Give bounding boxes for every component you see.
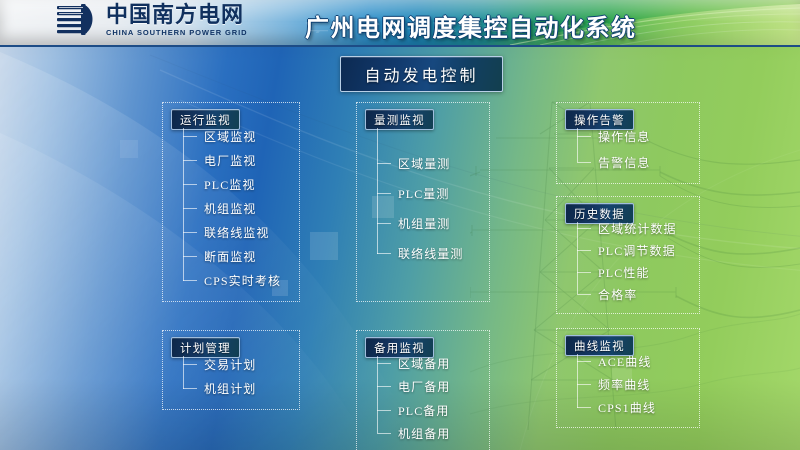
menu-group-operation-alarm: 操作告警操作信息告警信息: [556, 102, 700, 184]
tree-connector-line: [377, 433, 391, 434]
menu-item-historical-data-1[interactable]: PLC调节数据: [577, 244, 676, 258]
tree-connector-line: [183, 388, 197, 389]
group-header-measurement-monitoring[interactable]: 量测监视: [365, 109, 434, 130]
menu-item-label: 电厂备用: [398, 378, 450, 395]
menu-item-measurement-monitoring-2[interactable]: 机组量测: [377, 217, 450, 231]
group-tree-measurement-monitoring: 区域量测PLC量测机组量测联络线量测: [377, 128, 485, 299]
page-title: 自动发电控制: [364, 62, 478, 86]
tree-connector-line: [183, 256, 197, 257]
menu-item-label: ACE曲线: [598, 353, 652, 370]
menu-item-historical-data-3[interactable]: 合格率: [577, 287, 637, 301]
brand-name-en: CHINA SOUTHERN POWER GRID: [106, 29, 247, 37]
app-header: 中国南方电网 CHINA SOUTHERN POWER GRID 广州电网调度集…: [0, 0, 800, 47]
tree-connector-line: [377, 410, 391, 411]
southern-power-grid-logo-icon: [55, 3, 99, 37]
system-title: 广州电网调度集控自动化系统: [305, 8, 637, 43]
menu-item-operation-monitoring-3[interactable]: 机组监视: [183, 202, 256, 216]
tree-connector-line: [183, 280, 197, 281]
menu-group-measurement-monitoring: 量测监视区域量测PLC量测机组量测联络线量测: [356, 102, 490, 302]
group-header-label: 备用监视: [374, 340, 425, 356]
brand-logo: 中国南方电网 CHINA SOUTHERN POWER GRID: [55, 3, 247, 37]
menu-item-label: 操作信息: [598, 128, 650, 145]
menu-group-operation-monitoring: 运行监视区域监视电厂监视PLC监视机组监视联络线监视断面监视CPS实时考核: [162, 102, 300, 302]
menu-item-curve-monitoring-0[interactable]: ACE曲线: [577, 355, 652, 369]
menu-item-label: 机组监视: [204, 200, 256, 217]
menu-item-historical-data-0[interactable]: 区域统计数据: [577, 222, 677, 236]
menu-group-curve-monitoring: 曲线监视ACE曲线频率曲线CPS1曲线: [556, 328, 700, 428]
group-header-operation-alarm[interactable]: 操作告警: [565, 109, 634, 130]
menu-item-curve-monitoring-1[interactable]: 频率曲线: [577, 378, 650, 392]
menu-item-reserve-monitoring-1[interactable]: 电厂备用: [377, 380, 450, 394]
tree-connector-line: [377, 386, 391, 387]
menu-item-label: 区域统计数据: [598, 220, 677, 237]
menu-item-label: PLC调节数据: [598, 242, 676, 259]
menu-item-label: 合格率: [598, 286, 637, 303]
menu-item-label: 区域量测: [398, 155, 450, 172]
brand-name-cn: 中国南方电网: [106, 4, 247, 26]
menu-item-measurement-monitoring-1[interactable]: PLC量测: [377, 187, 450, 201]
menu-item-historical-data-2[interactable]: PLC性能: [577, 265, 650, 279]
tree-connector-line: [577, 228, 591, 229]
menu-item-plan-management-0[interactable]: 交易计划: [183, 357, 256, 371]
group-header-label: 操作告警: [574, 112, 625, 128]
group-tree-historical-data: 区域统计数据PLC调节数据PLC性能合格率: [577, 222, 695, 311]
menu-item-curve-monitoring-2[interactable]: CPS1曲线: [577, 401, 656, 415]
menu-item-reserve-monitoring-3[interactable]: 机组备用: [377, 426, 450, 440]
menu-item-label: 区域监视: [204, 128, 256, 145]
tree-connector-line: [577, 250, 591, 251]
tree-connector-line: [577, 294, 591, 295]
menu-item-measurement-monitoring-0[interactable]: 区域量测: [377, 157, 450, 171]
group-header-label: 计划管理: [180, 340, 231, 356]
menu-item-label: PLC备用: [398, 402, 450, 419]
menu-item-label: 告警信息: [598, 154, 650, 171]
tree-connector-line: [183, 184, 197, 185]
menu-group-plan-management: 计划管理交易计划机组计划: [162, 330, 300, 410]
menu-group-reserve-monitoring: 备用监视区域备用电厂备用PLC备用机组备用: [356, 330, 490, 450]
group-header-label: 历史数据: [574, 206, 625, 222]
tree-connector-line: [183, 232, 197, 233]
tree-connector-line: [183, 160, 197, 161]
group-header-label: 曲线监视: [574, 338, 625, 354]
group-header-label: 运行监视: [180, 112, 231, 128]
menu-item-operation-monitoring-0[interactable]: 区域监视: [183, 129, 256, 143]
menu-item-label: 交易计划: [204, 356, 256, 373]
menu-item-label: CPS实时考核: [204, 272, 281, 289]
menu-item-label: 断面监视: [204, 248, 256, 265]
menu-item-label: 机组备用: [398, 425, 450, 442]
group-header-label: 量测监视: [374, 112, 425, 128]
group-tree-operation-monitoring: 区域监视电厂监视PLC监视机组监视联络线监视断面监视CPS实时考核: [183, 128, 295, 299]
tree-connector-line: [183, 136, 197, 137]
menu-item-label: 频率曲线: [598, 376, 650, 393]
page-title-plate: 自动发电控制: [340, 56, 503, 92]
tree-connector-line: [577, 272, 591, 273]
menu-item-operation-monitoring-2[interactable]: PLC监视: [183, 177, 256, 191]
group-tree-operation-alarm: 操作信息告警信息: [577, 128, 695, 181]
menu-item-label: 机组计划: [204, 380, 256, 397]
menu-item-label: CPS1曲线: [598, 399, 656, 416]
group-tree-reserve-monitoring: 区域备用电厂备用PLC备用机组备用: [377, 356, 485, 450]
menu-item-operation-alarm-0[interactable]: 操作信息: [577, 130, 650, 144]
menu-item-label: PLC监视: [204, 176, 256, 193]
tree-connector-line: [377, 363, 391, 364]
menu-item-plan-management-1[interactable]: 机组计划: [183, 382, 256, 396]
tree-connector-line: [183, 364, 197, 365]
tree-connector-line: [577, 361, 591, 362]
menu-group-historical-data: 历史数据区域统计数据PLC调节数据PLC性能合格率: [556, 196, 700, 314]
menu-item-operation-monitoring-6[interactable]: CPS实时考核: [183, 274, 281, 288]
menu-item-reserve-monitoring-2[interactable]: PLC备用: [377, 403, 450, 417]
menu-item-label: 联络线监视: [204, 224, 270, 241]
group-tree-curve-monitoring: ACE曲线频率曲线CPS1曲线: [577, 354, 695, 425]
menu-item-operation-monitoring-1[interactable]: 电厂监视: [183, 153, 256, 167]
menu-item-operation-alarm-1[interactable]: 告警信息: [577, 155, 650, 169]
app-screen: 中国南方电网 CHINA SOUTHERN POWER GRID 广州电网调度集…: [0, 0, 800, 450]
tree-connector-line: [577, 136, 591, 137]
tree-connector-line: [577, 407, 591, 408]
tree-connector-line: [377, 163, 391, 164]
menu-item-operation-monitoring-4[interactable]: 联络线监视: [183, 226, 270, 240]
tree-connector-line: [577, 162, 591, 163]
menu-item-label: 机组量测: [398, 215, 450, 232]
group-tree-plan-management: 交易计划机组计划: [183, 356, 295, 407]
tree-connector-line: [577, 384, 591, 385]
menu-item-operation-monitoring-5[interactable]: 断面监视: [183, 250, 256, 264]
menu-item-reserve-monitoring-0[interactable]: 区域备用: [377, 357, 450, 371]
menu-item-label: PLC量测: [398, 185, 450, 202]
menu-item-label: 区域备用: [398, 355, 450, 372]
menu-item-measurement-monitoring-3[interactable]: 联络线量测: [377, 247, 464, 261]
menu-item-label: PLC性能: [598, 264, 650, 281]
menu-item-label: 联络线量测: [398, 245, 464, 262]
tree-connector-line: [183, 208, 197, 209]
tree-connector-line: [377, 193, 391, 194]
tree-connector-line: [377, 223, 391, 224]
tree-connector-line: [377, 253, 391, 254]
menu-item-label: 电厂监视: [204, 152, 256, 169]
